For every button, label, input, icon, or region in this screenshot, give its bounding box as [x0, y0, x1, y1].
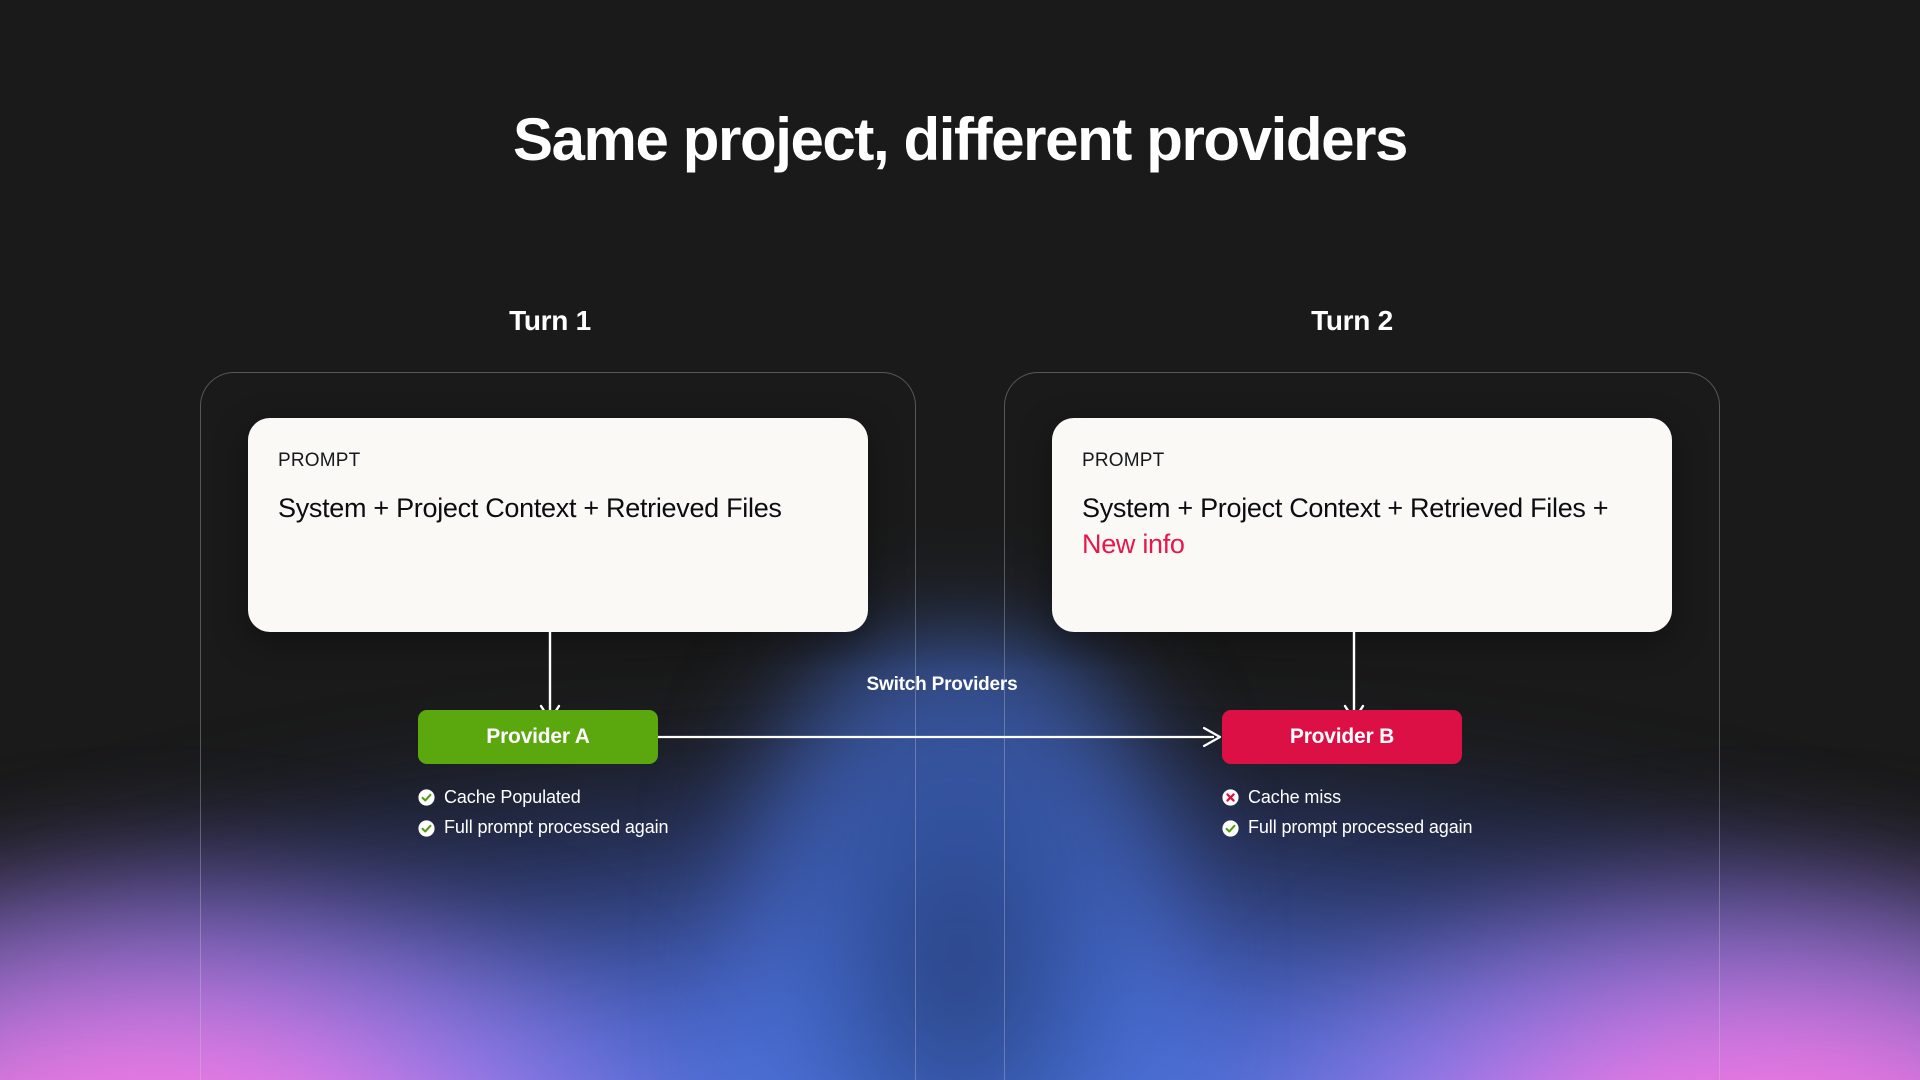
- status-item-label: Cache Populated: [444, 784, 581, 811]
- prompt-card-turn-1: PROMPT System + Project Context + Retrie…: [248, 418, 868, 632]
- check-circle-icon: [418, 789, 435, 806]
- status-item: Full prompt processed again: [1222, 814, 1472, 841]
- prompt-body-2: System + Project Context + Retrieved Fil…: [1082, 490, 1642, 562]
- status-item: Full prompt processed again: [418, 814, 668, 841]
- prompt-body-1: System + Project Context + Retrieved Fil…: [278, 490, 838, 526]
- prompt-body-text-1: System + Project Context + Retrieved Fil…: [278, 493, 782, 523]
- prompt-kicker-1: PROMPT: [278, 450, 838, 472]
- slide-stage: Same project, different providers Turn 1…: [0, 0, 1920, 1080]
- prompt-body-text-2: System + Project Context + Retrieved Fil…: [1082, 493, 1608, 523]
- x-circle-icon: [1222, 789, 1239, 806]
- status-item-label: Full prompt processed again: [1248, 814, 1472, 841]
- provider-a-label: Provider A: [486, 725, 589, 749]
- status-list-turn-1: Cache Populated Full prompt processed ag…: [418, 784, 668, 845]
- prompt-kicker-2: PROMPT: [1082, 450, 1642, 472]
- status-item: Cache miss: [1222, 784, 1472, 811]
- provider-b-label: Provider B: [1290, 725, 1394, 749]
- prompt-card-turn-2: PROMPT System + Project Context + Retrie…: [1052, 418, 1672, 632]
- check-circle-icon: [418, 820, 435, 837]
- status-list-turn-2: Cache miss Full prompt processed again: [1222, 784, 1472, 845]
- turn-label-1: Turn 1: [310, 305, 790, 337]
- status-item-label: Full prompt processed again: [444, 814, 668, 841]
- page-title: Same project, different providers: [0, 108, 1920, 172]
- check-circle-icon: [1222, 820, 1239, 837]
- status-item: Cache Populated: [418, 784, 668, 811]
- provider-b-button[interactable]: Provider B: [1222, 710, 1462, 764]
- prompt-body-accent-2: New info: [1082, 529, 1185, 559]
- turn-label-2: Turn 2: [1112, 305, 1592, 337]
- provider-a-button[interactable]: Provider A: [418, 710, 658, 764]
- status-item-label: Cache miss: [1248, 784, 1341, 811]
